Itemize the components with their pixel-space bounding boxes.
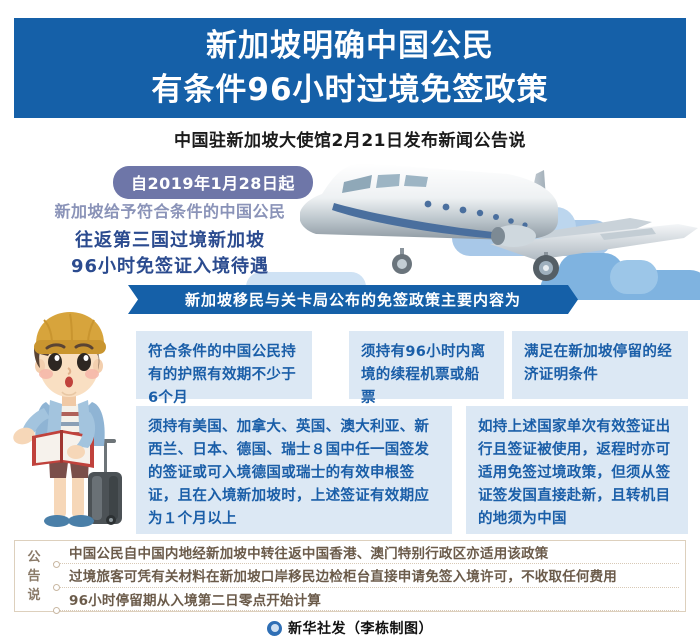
announcement-row-text: 96小时停留期从入境第二日零点开始计算 <box>69 589 321 609</box>
policy-box-financial-proof: 满足在新加坡停留的经济证明条件 <box>512 331 688 399</box>
page-title-banner: 新加坡明确中国公民 有条件96小时过境免签政策 <box>14 18 686 118</box>
footer: 新华社发（李栋制图） <box>0 618 700 638</box>
policy-line-2: 往返第三国过境新加坡 <box>0 226 340 252</box>
traveler-character-icon <box>10 312 150 540</box>
page-title-line-2: 有条件96小时过境免签政策 <box>151 68 548 112</box>
airplane-icon <box>300 148 700 298</box>
policy-box-passport-validity: 符合条件的中国公民持有的护照有效期不少于6个月 <box>136 331 312 399</box>
announcement-row: 中国公民自中国内地经新加坡中转往返中国香港、澳门特别行政区亦适用该政策 <box>53 541 679 564</box>
page-title-line-1: 新加坡明确中国公民 <box>206 24 494 68</box>
policy-box-onward-ticket: 须持有96小时内离境的续程机票或船票 <box>349 331 504 399</box>
announcement-row-text: 过境旅客可凭有关材料在新加坡口岸移民边检柜台直接申请免签入境许可，不收取任何费用 <box>69 565 617 585</box>
announcement-row-text: 中国公民自中国内地经新加坡中转往返中国香港、澳门特别行政区亦适用该政策 <box>69 542 549 562</box>
footer-credit: 新华社发（李栋制图） <box>288 618 433 638</box>
announcement-label-char-1: 公 <box>27 548 40 567</box>
announcement-label-char-3: 说 <box>27 586 40 605</box>
announcement-row: 过境旅客可凭有关材料在新加坡口岸移民边检柜台直接申请免签入境许可，不收取任何费用 <box>53 564 679 587</box>
announcement-label-char-2: 告 <box>27 567 40 586</box>
announcement-box: 公 告 说 中国公民自中国内地经新加坡中转往返中国香港、澳门特别行政区亦适用该政… <box>14 540 686 612</box>
announcement-label: 公 告 说 <box>15 541 53 611</box>
section-banner: 新加坡移民与关卡局公布的免签政策主要内容为 <box>128 285 578 314</box>
announcement-rows: 中国公民自中国内地经新加坡中转往返中国香港、澳门特别行政区亦适用该政策 过境旅客… <box>53 541 685 611</box>
policy-box-visa-countries: 须持有美国、加拿大、英国、澳大利亚、新西兰、日本、德国、瑞士８国中任一国签发的签… <box>136 406 452 534</box>
bullet-circle-icon <box>53 607 60 614</box>
xinhua-logo-icon <box>267 621 282 636</box>
announcement-row: 96小时停留期从入境第二日零点开始计算 <box>53 588 679 611</box>
policy-box-single-entry-return: 如持上述国家单次有效签证出行且签证被使用，返程时亦可适用免签过境政策，但须从签证… <box>466 406 688 534</box>
infographic-page: 新加坡明确中国公民 有条件96小时过境免签政策 中国驻新加坡大使馆2月21日发布… <box>0 0 700 642</box>
policy-line-1: 新加坡给予符合条件的中国公民 <box>0 198 340 222</box>
effective-date-badge: 自2019年1月28日起 <box>113 166 313 199</box>
policy-line-3: 96小时免签证入境待遇 <box>0 252 340 278</box>
